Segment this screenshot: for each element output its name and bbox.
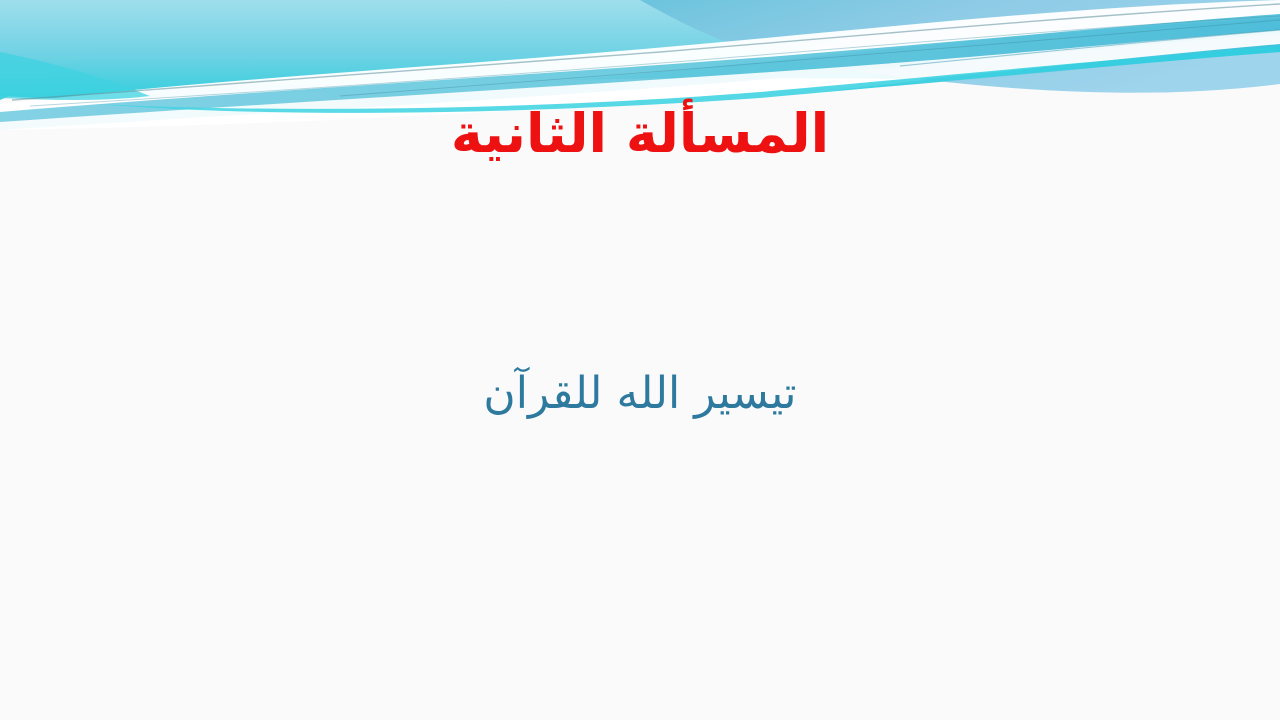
slide-title: المسألة الثانية (451, 104, 829, 163)
slide-body-text: تيسير الله للقرآن (483, 368, 796, 421)
slide-content: المسألة الثانية تيسير الله للقرآن (0, 0, 1280, 720)
presentation-slide: المسألة الثانية تيسير الله للقرآن (0, 0, 1280, 720)
slide-title-row: المسألة الثانية (0, 104, 1280, 163)
slide-body-row: تيسير الله للقرآن (0, 368, 1280, 421)
